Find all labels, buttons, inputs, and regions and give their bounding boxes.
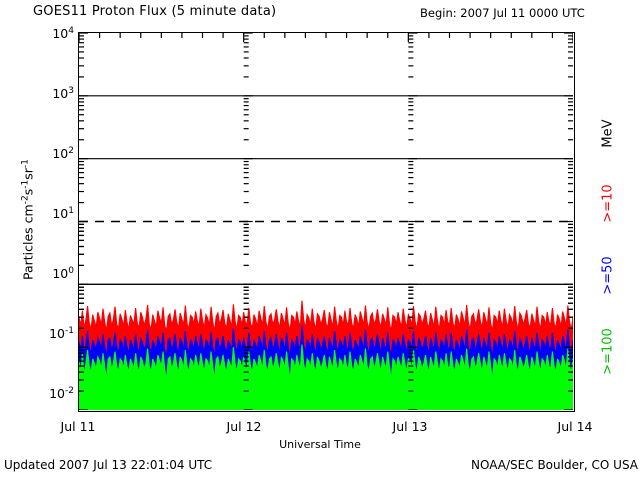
agency-label: NOAA/SEC Boulder, CO USA xyxy=(471,458,638,472)
y-axis-exp-3: -1 xyxy=(20,159,30,168)
y-axis-unit-sr: sr xyxy=(21,168,36,180)
legend-item-ge100mev: >=100 xyxy=(601,292,616,412)
x-tick-label-jul12: Jul 12 xyxy=(214,419,274,434)
y-tick-label-1e4: 104 xyxy=(34,26,74,41)
y-axis-unit-s: s xyxy=(21,189,36,196)
y-tick-label-1e0: 100 xyxy=(34,266,74,281)
y-tick-label-1e2: 102 xyxy=(34,146,74,161)
y-tick-label-1e3: 103 xyxy=(34,86,74,101)
x-tick-label-jul13: Jul 13 xyxy=(380,419,440,434)
begin-time-label: Begin: 2007 Jul 11 0000 UTC xyxy=(420,6,585,20)
proton-flux-plot xyxy=(79,33,573,410)
plot-area xyxy=(78,32,575,412)
y-tick-label-1em1: 10-1 xyxy=(34,326,74,341)
chart-title: GOES11 Proton Flux (5 minute data) xyxy=(33,4,276,19)
x-axis-title: Universal Time xyxy=(0,438,640,451)
y-axis-exp-1: -2 xyxy=(20,195,30,204)
y-tick-label-1em2: 10-2 xyxy=(34,386,74,401)
gridlines xyxy=(79,96,573,284)
x-tick-label-jul14: Jul 14 xyxy=(545,419,605,434)
x-tick-label-jul11: Jul 11 xyxy=(48,419,108,434)
updated-timestamp: Updated 2007 Jul 13 22:01:04 UTC xyxy=(4,458,212,472)
chart-page: GOES11 Proton Flux (5 minute data) Begin… xyxy=(0,0,640,480)
y-axis-exp-2: -1 xyxy=(20,180,30,189)
y-tick-label-1e1: 101 xyxy=(34,206,74,221)
flux-traces xyxy=(79,301,573,410)
